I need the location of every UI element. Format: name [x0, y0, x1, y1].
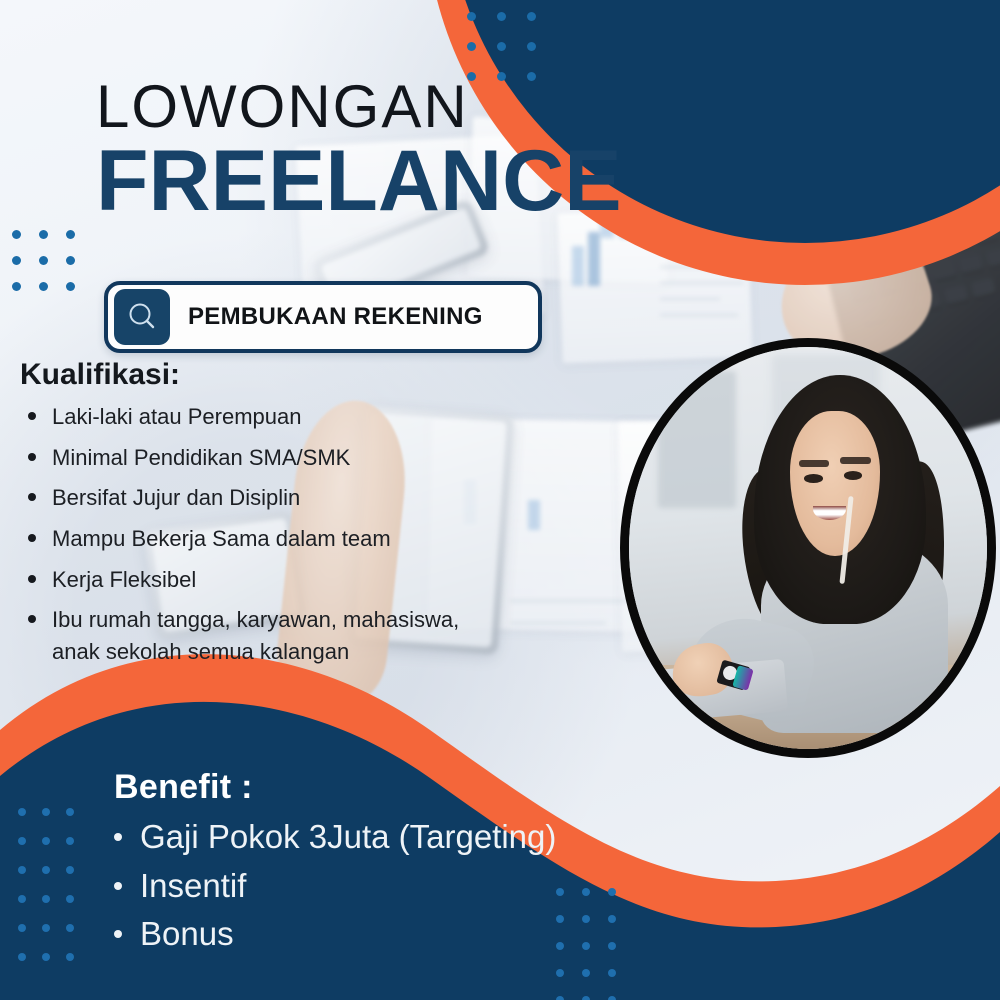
list-item-label: Laki-laki atau Perempuan	[52, 404, 301, 429]
portrait-brow-left	[799, 460, 829, 466]
list-item: Mampu Bekerja Sama dalam team	[20, 523, 540, 555]
list-item-label: Insentif	[140, 867, 246, 904]
avatar	[620, 338, 996, 758]
poster-canvas: LOWONGAN FREELANCE PEMBUKAAN REKENING Ku…	[0, 0, 1000, 1000]
list-item: Kerja Fleksibel	[20, 564, 540, 596]
dot-grid-bottom-left	[18, 808, 90, 982]
list-item: Gaji Pokok 3Juta (Targeting)	[114, 813, 754, 862]
bullet-icon	[28, 534, 36, 542]
portrait-eye-left	[804, 474, 823, 483]
qualifications-section: Kualifikasi: Laki-laki atau Perempuan Mi…	[20, 358, 540, 677]
search-bar[interactable]: PEMBUKAAN REKENING	[104, 281, 542, 353]
headline: LOWONGAN FREELANCE	[96, 78, 622, 224]
list-item: Minimal Pendidikan SMA/SMK	[20, 442, 540, 474]
headline-line-1: LOWONGAN	[96, 78, 622, 136]
bullet-icon	[28, 412, 36, 420]
list-item-label: Kerja Fleksibel	[52, 567, 196, 592]
headline-line-2: FREELANCE	[96, 138, 622, 224]
list-item: Laki-laki atau Perempuan	[20, 401, 540, 433]
portrait-brow-right	[840, 457, 870, 463]
bullet-icon	[28, 575, 36, 583]
list-item-label: Mampu Bekerja Sama dalam team	[52, 526, 391, 551]
list-item-label-cont: anak sekolah semua kalangan	[52, 636, 540, 668]
qualifications-title: Kualifikasi:	[20, 358, 540, 392]
bullet-icon	[114, 930, 122, 938]
benefit-title: Benefit :	[114, 768, 754, 807]
list-item: Bersifat Jujur dan Disiplin	[20, 482, 540, 514]
list-item-label: Minimal Pendidikan SMA/SMK	[52, 445, 350, 470]
portrait-wall-panel	[658, 371, 737, 508]
list-item-label: Ibu rumah tangga, karyawan, mahasiswa,	[52, 604, 540, 636]
qualifications-list: Laki-laki atau Perempuan Minimal Pendidi…	[20, 401, 540, 668]
bullet-icon	[28, 453, 36, 461]
bullet-icon	[114, 882, 122, 890]
list-item: Bonus	[114, 910, 754, 959]
list-item-label: Bonus	[140, 915, 234, 952]
list-item: Ibu rumah tangga, karyawan, mahasiswa, a…	[20, 604, 540, 667]
search-icon[interactable]	[114, 289, 170, 345]
search-label: PEMBUKAAN REKENING	[188, 303, 483, 331]
benefit-list: Gaji Pokok 3Juta (Targeting) Insentif Bo…	[114, 813, 754, 959]
bullet-icon	[28, 493, 36, 501]
benefit-section: Benefit : Gaji Pokok 3Juta (Targeting) I…	[114, 768, 754, 959]
bullet-icon	[28, 615, 36, 623]
bullet-icon	[114, 833, 122, 841]
list-item: Insentif	[114, 862, 754, 911]
list-item-label: Bersifat Jujur dan Disiplin	[52, 485, 300, 510]
dot-grid-left	[12, 230, 93, 308]
list-item-label: Gaji Pokok 3Juta (Targeting)	[140, 818, 556, 855]
